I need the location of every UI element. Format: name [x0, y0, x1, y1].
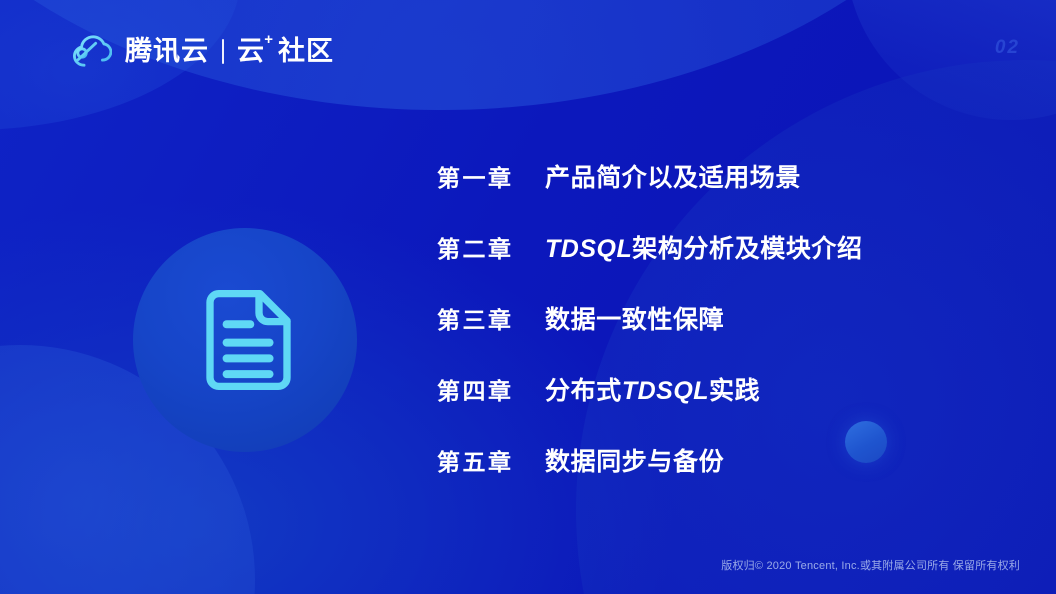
brand-community-prefix: 云: [237, 36, 265, 66]
presentation-slide: 腾讯云 云+社区 02 第一章 产品简介以及适用场景 第二章 TDSQL架: [0, 0, 1056, 594]
agenda-item-chapter: 第四章: [437, 380, 545, 403]
agenda-item-title: 数据一致性保障: [545, 308, 724, 333]
brand-logo[interactable]: 腾讯云 云+社区: [68, 28, 334, 74]
brand-wordmark: 腾讯云 云+社区: [125, 38, 334, 65]
agenda-item-title: 产品简介以及适用场景: [545, 166, 801, 191]
agenda-item-title: 数据同步与备份: [545, 450, 724, 475]
agenda-list: 第一章 产品简介以及适用场景 第二章 TDSQL架构分析及模块介绍 第三章 数据…: [437, 166, 997, 521]
brand-community: 云+: [237, 38, 265, 65]
tencent-cloud-logo-icon: [68, 29, 112, 73]
agenda-item-title-text: 实践: [709, 377, 760, 405]
agenda-item-5[interactable]: 第五章 数据同步与备份: [437, 450, 997, 521]
feature-icon-medallion: [133, 228, 357, 452]
agenda-item-chapter: 第一章: [437, 167, 545, 190]
agenda-item-2[interactable]: 第二章 TDSQL架构分析及模块介绍: [437, 237, 997, 308]
brand-community-plus: +: [264, 32, 274, 47]
background-corner-top-right-decoration: [846, 0, 1056, 120]
agenda-item-3[interactable]: 第三章 数据一致性保障: [437, 308, 997, 379]
agenda-item-title-latin: TDSQL: [545, 235, 632, 263]
agenda-item-title-text: 架构分析及模块介绍: [632, 235, 862, 263]
document-lines-icon: [189, 284, 301, 396]
page-number: 02: [995, 38, 1020, 57]
brand-divider: [222, 39, 224, 64]
agenda-item-1[interactable]: 第一章 产品简介以及适用场景: [437, 166, 997, 237]
agenda-item-title: TDSQL架构分析及模块介绍: [545, 237, 863, 262]
brand-community-suffix: 社区: [278, 38, 334, 65]
agenda-item-chapter: 第五章: [437, 451, 545, 474]
agenda-item-chapter: 第二章: [437, 238, 545, 261]
agenda-item-4[interactable]: 第四章 分布式TDSQL实践: [437, 379, 997, 450]
agenda-item-chapter: 第三章: [437, 309, 545, 332]
agenda-item-title: 分布式TDSQL实践: [545, 379, 760, 404]
copyright-footer: 版权归© 2020 Tencent, Inc.或其附属公司所有 保留所有权利: [721, 561, 1020, 572]
agenda-item-title-latin: TDSQL: [622, 377, 709, 405]
agenda-item-title-prefix: 分布式: [545, 377, 622, 405]
brand-name: 腾讯云: [125, 38, 209, 65]
